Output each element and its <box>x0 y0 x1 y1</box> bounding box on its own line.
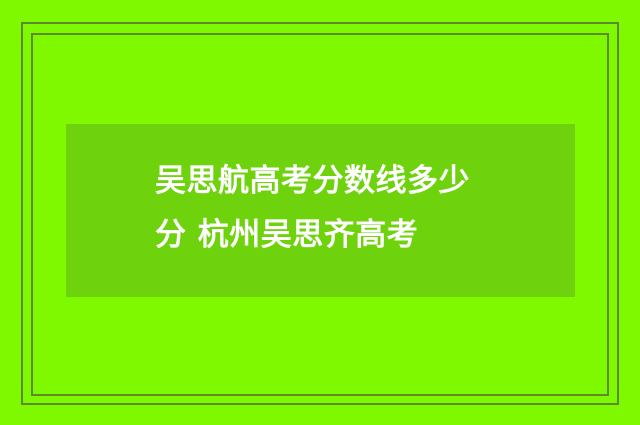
headline-line-2: 分 杭州吴思齐高考 <box>155 208 565 262</box>
content-panel: 吴思航高考分数线多少 分 杭州吴思齐高考 <box>66 124 575 297</box>
headline-line-1: 吴思航高考分数线多少 <box>155 154 565 208</box>
headline-text-block: 吴思航高考分数线多少 分 杭州吴思齐高考 <box>155 154 565 262</box>
banner-canvas: 吴思航高考分数线多少 分 杭州吴思齐高考 <box>0 0 640 425</box>
